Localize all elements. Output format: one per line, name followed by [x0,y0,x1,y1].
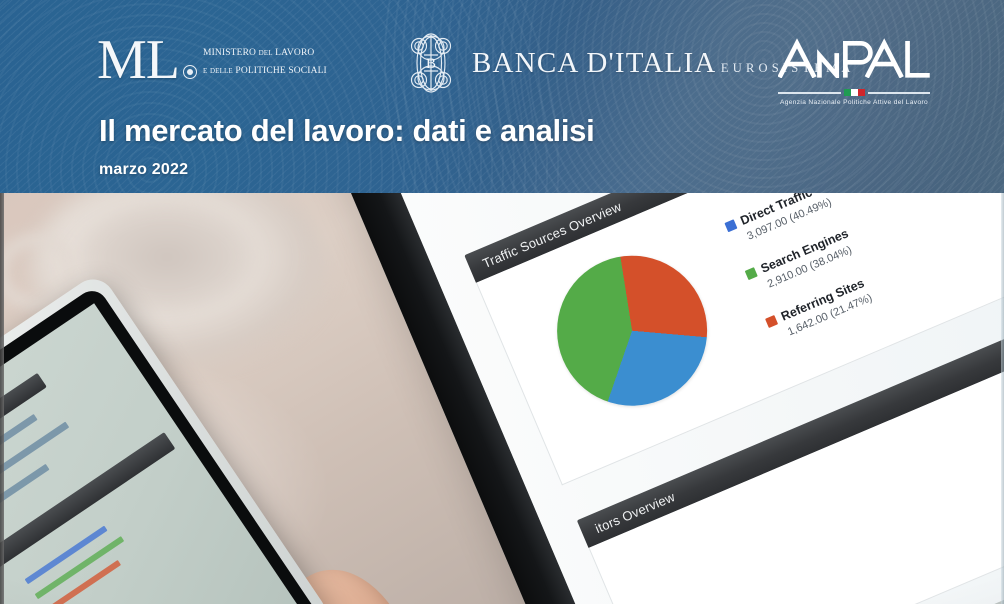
photo-frame-left-edge [0,193,4,604]
page-subtitle: marzo 2022 [99,161,594,179]
svg-text:B: B [426,56,436,72]
ministero-wordmark-line1: MINISTERO del LAVORO [203,48,314,58]
anpal-rule-left [778,92,841,94]
logo-ministero-del-lavoro: ML MINISTERO del LAVORO e delle POLITICH… [97,38,327,84]
banca-ditalia-emblem-icon: B [400,32,462,94]
hero-photo: 7,649Visits 25,423Pageviews 3.32Pages/Vi… [0,193,1004,604]
ministero-wordmark-line2: e delle POLITICHE SOCIALI [203,66,327,76]
anpal-rule-right [868,92,931,94]
banca-ditalia-name: BANCA D'ITALIA [472,47,716,79]
page-header-banner: ML MINISTERO del LAVORO e delle POLITICH… [0,0,1004,193]
anpal-wordmark [778,38,930,85]
ministero-wordmark: MINISTERO del LAVORO e delle POLITICHE S… [203,42,327,78]
anpal-flag-rule [778,89,930,96]
title-block: Il mercato del lavoro: dati e analisi ma… [99,114,594,179]
logo-anpal: Agenzia Nazionale Politiche Attive del L… [778,38,930,106]
logo-row: ML MINISTERO del LAVORO e delle POLITICH… [0,16,1004,90]
italian-flag-icon [844,89,865,96]
screenshot-canvas: ML MINISTERO del LAVORO e delle POLITICH… [0,0,1004,604]
anpal-tagline: Agenzia Nazionale Politiche Attive del L… [778,99,930,106]
ministero-monogram: ML [97,38,179,84]
page-title: Il mercato del lavoro: dati e analisi [99,114,594,148]
ministero-seal-icon [183,65,197,79]
